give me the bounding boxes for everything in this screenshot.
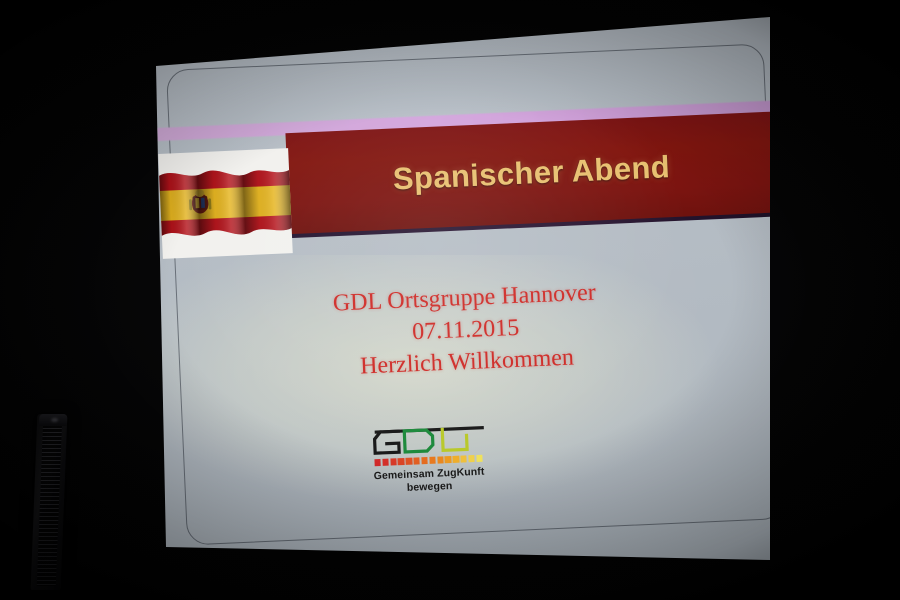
dark-room-background: Spanischer Abend (0, 0, 900, 600)
flag-image-box (158, 148, 293, 259)
slide-body-text: GDL Ortsgruppe Hannover 07.11.2015 Herzl… (156, 270, 775, 391)
spanish-flag-icon (158, 157, 293, 249)
gdl-logo-caption: Gemeinsam ZugKunft bewegen (354, 465, 505, 498)
gdl-logo: Gemeinsam ZugKunft bewegen (352, 421, 505, 505)
slide-header-area: Spanischer Abend (156, 77, 779, 284)
projection-screen: Spanischer Abend (0, 0, 900, 600)
loudspeaker (31, 414, 68, 590)
gdl-wordmark-icon (370, 422, 485, 459)
speaker-grille (37, 420, 62, 586)
